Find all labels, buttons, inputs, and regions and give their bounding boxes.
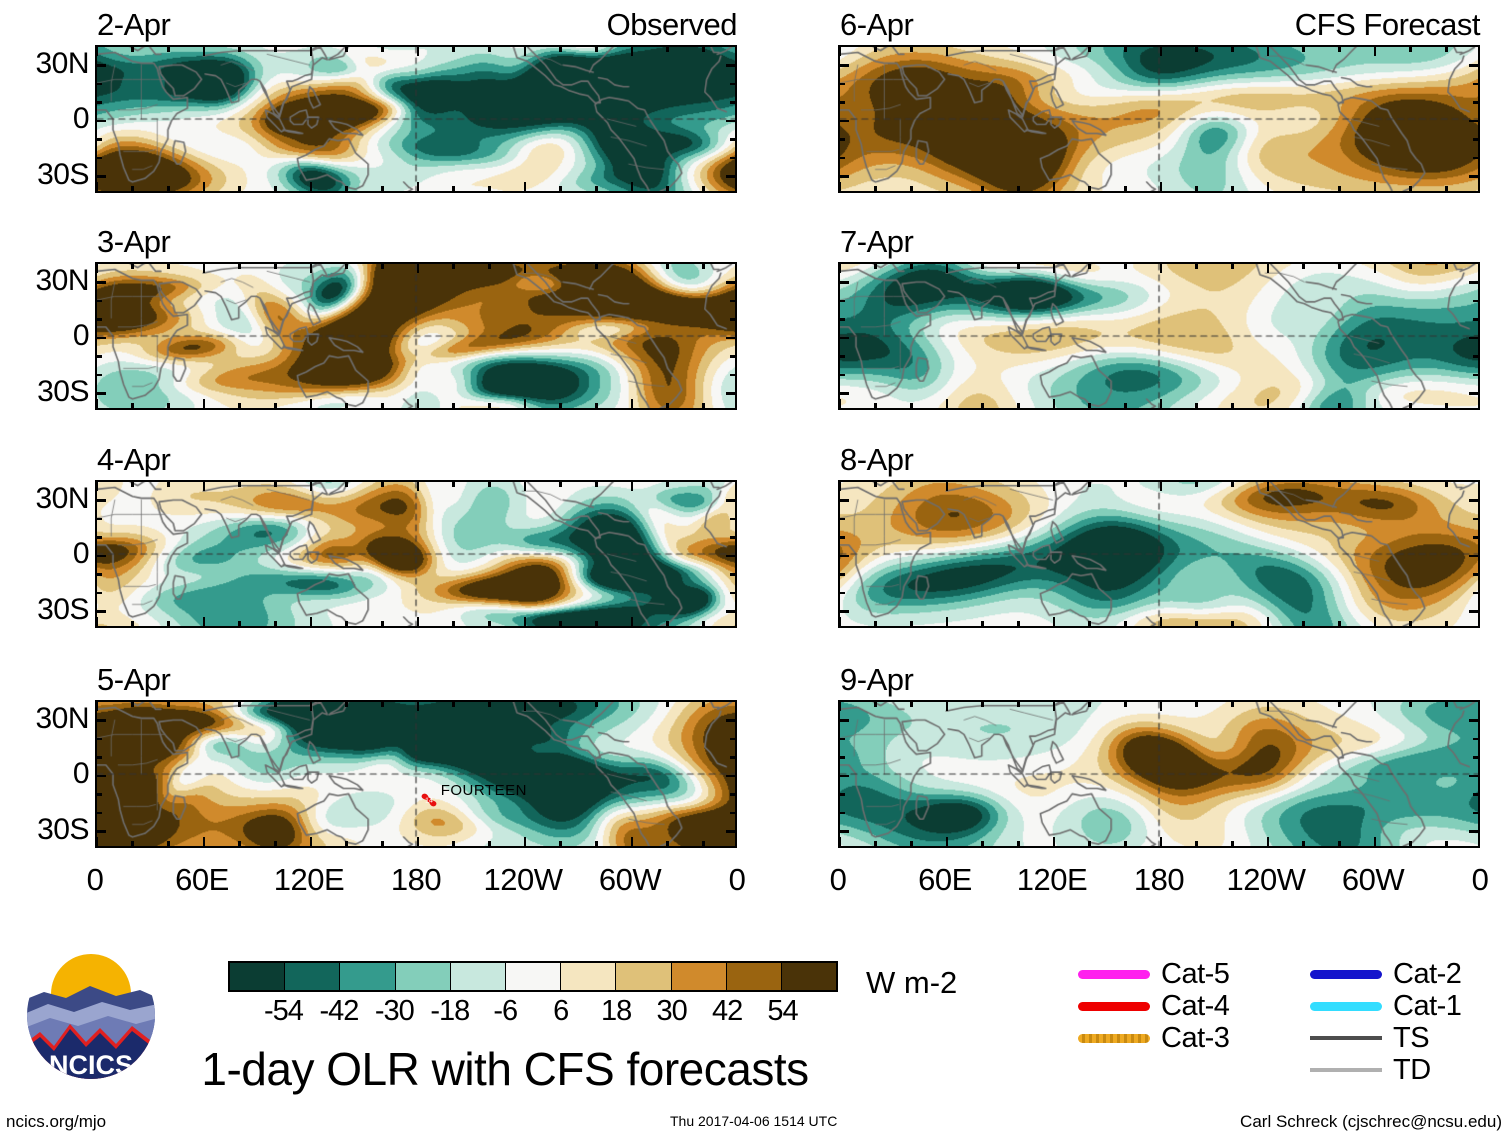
x-tick-mark bbox=[1267, 482, 1270, 491]
x-tick-mark bbox=[203, 617, 206, 626]
colorbar: -54-42-30-18-6618304254 bbox=[228, 961, 838, 1031]
x-tick-mark bbox=[1195, 403, 1198, 408]
x-tick-mark bbox=[1124, 264, 1127, 269]
legend-color-swatch bbox=[1310, 1036, 1382, 1040]
x-tick-mark bbox=[981, 264, 984, 269]
x-tick-mark bbox=[1124, 621, 1127, 626]
y-tick-mark bbox=[97, 374, 102, 377]
x-tick-mark bbox=[1267, 399, 1270, 408]
x-tick-mark bbox=[946, 47, 949, 56]
x-tick-mark bbox=[167, 841, 170, 846]
x-tick-mark bbox=[910, 47, 913, 52]
legend-color-swatch bbox=[1078, 970, 1150, 979]
x-tick-mark bbox=[274, 841, 277, 846]
x-tick-mark bbox=[238, 841, 241, 846]
x-tick-mark bbox=[1195, 186, 1198, 191]
y-tick-label: 0 bbox=[73, 319, 89, 353]
colorbar-tick-label: 18 bbox=[601, 995, 631, 1028]
y-tick-mark bbox=[1473, 573, 1478, 576]
y-tick-mark bbox=[730, 300, 735, 303]
x-tick-mark bbox=[524, 617, 527, 626]
x-tick-mark bbox=[1195, 702, 1198, 707]
y-tick-mark bbox=[1473, 812, 1478, 815]
x-tick-label: 0 bbox=[729, 862, 746, 898]
x-tick-mark bbox=[666, 841, 669, 846]
x-tick-mark bbox=[1017, 47, 1020, 52]
x-tick-mark bbox=[167, 47, 170, 52]
x-tick-mark bbox=[381, 264, 384, 269]
legend-color-swatch bbox=[1078, 1002, 1150, 1011]
y-tick-mark bbox=[97, 101, 102, 104]
x-tick-mark bbox=[702, 702, 705, 707]
y-tick-mark bbox=[1469, 499, 1478, 502]
y-tick-mark bbox=[1473, 592, 1478, 595]
map-canvas bbox=[838, 262, 1480, 410]
x-tick-label: 120E bbox=[1017, 862, 1087, 898]
map-panel-6-apr: 6-AprCFS Forecast bbox=[838, 45, 1480, 193]
x-tick-mark bbox=[131, 621, 134, 626]
x-tick-mark bbox=[381, 403, 384, 408]
x-tick-mark bbox=[874, 47, 877, 52]
x-tick-mark bbox=[524, 482, 527, 491]
y-tick-mark bbox=[97, 120, 106, 123]
y-tick-mark bbox=[726, 719, 735, 722]
x-tick-mark bbox=[702, 841, 705, 846]
x-tick-label: 120W bbox=[484, 862, 563, 898]
x-tick-mark bbox=[874, 841, 877, 846]
x-tick-mark bbox=[131, 702, 134, 707]
x-tick-mark bbox=[1017, 186, 1020, 191]
x-tick-mark bbox=[1088, 186, 1091, 191]
svg-text:14: 14 bbox=[425, 798, 433, 805]
panel-date-label: 4-Apr bbox=[97, 442, 170, 478]
footer-author[interactable]: Carl Schreck (cjschrec@ncsu.edu) bbox=[1240, 1112, 1502, 1132]
x-tick-mark bbox=[310, 182, 313, 191]
x-tick-mark bbox=[839, 47, 842, 56]
legend-label: Cat-2 bbox=[1393, 960, 1461, 989]
x-tick-mark bbox=[381, 47, 384, 52]
x-tick-mark bbox=[238, 403, 241, 408]
x-tick-mark bbox=[1302, 47, 1305, 52]
legend-label: TS bbox=[1393, 1024, 1429, 1053]
x-tick-mark bbox=[488, 47, 491, 52]
y-tick-mark bbox=[1473, 756, 1478, 759]
x-tick-mark bbox=[1017, 841, 1020, 846]
y-tick-mark bbox=[1473, 738, 1478, 741]
map-panel-2-apr: 2-AprObserved30N030S bbox=[95, 45, 737, 193]
colorbar-tick-label: -54 bbox=[264, 995, 303, 1028]
x-tick-mark bbox=[1088, 841, 1091, 846]
y-tick-mark bbox=[840, 573, 845, 576]
colorbar-segment bbox=[339, 963, 394, 990]
x-tick-mark bbox=[702, 403, 705, 408]
colorbar-segment bbox=[284, 963, 339, 990]
x-tick-mark bbox=[1160, 837, 1163, 846]
y-tick-mark bbox=[840, 120, 849, 123]
x-tick-mark bbox=[1374, 264, 1377, 273]
x-tick-mark bbox=[1053, 47, 1056, 56]
y-tick-mark bbox=[840, 499, 849, 502]
y-tick-mark bbox=[1469, 281, 1478, 284]
y-tick-mark bbox=[97, 793, 102, 796]
x-tick-mark bbox=[559, 264, 562, 269]
legend-column-right: Cat-2Cat-1TSTD bbox=[1310, 958, 1461, 1086]
legend-item-cat-4: Cat-4 bbox=[1078, 990, 1229, 1022]
x-tick-mark bbox=[1017, 264, 1020, 269]
y-tick-mark bbox=[840, 157, 845, 160]
legend-item-cat-3: Cat-3 bbox=[1078, 1022, 1229, 1054]
colorbar-tick-label: 42 bbox=[712, 995, 742, 1028]
map-panel-5-apr: 5-Apr30N030S14FOURTEEN060E120E180120W60W… bbox=[95, 700, 737, 848]
x-tick-mark bbox=[1409, 841, 1412, 846]
x-tick-mark bbox=[488, 841, 491, 846]
y-tick-mark bbox=[1473, 374, 1478, 377]
x-tick-mark bbox=[839, 482, 842, 491]
x-tick-mark bbox=[1088, 47, 1091, 52]
y-tick-label: 30N bbox=[35, 482, 89, 516]
y-tick-mark bbox=[840, 138, 845, 141]
legend-color-swatch bbox=[1310, 1068, 1382, 1072]
legend-item-ts: TS bbox=[1310, 1022, 1461, 1054]
olr-anomaly-field bbox=[97, 47, 735, 191]
olr-anomaly-field bbox=[97, 264, 735, 408]
x-tick-mark bbox=[524, 837, 527, 846]
x-tick-mark bbox=[1445, 186, 1448, 191]
x-tick-mark bbox=[1088, 482, 1091, 487]
x-tick-mark bbox=[874, 186, 877, 191]
x-tick-mark bbox=[1445, 621, 1448, 626]
colorbar-segment bbox=[450, 963, 505, 990]
x-tick-mark bbox=[666, 47, 669, 52]
x-tick-mark bbox=[702, 482, 705, 487]
x-tick-mark bbox=[1338, 47, 1341, 52]
y-tick-mark bbox=[840, 536, 845, 539]
x-tick-mark bbox=[167, 621, 170, 626]
x-tick-mark bbox=[1088, 702, 1091, 707]
x-tick-label: 60E bbox=[918, 862, 972, 898]
y-tick-label: 30S bbox=[37, 158, 89, 192]
legend-color-swatch bbox=[1078, 1034, 1150, 1043]
y-tick-mark bbox=[840, 101, 845, 104]
x-tick-mark bbox=[1160, 482, 1163, 491]
x-tick-mark bbox=[1195, 621, 1198, 626]
x-tick-mark bbox=[1302, 403, 1305, 408]
x-tick-mark bbox=[1338, 403, 1341, 408]
x-tick-label: 120W bbox=[1227, 862, 1306, 898]
x-tick-mark bbox=[1338, 186, 1341, 191]
x-tick-mark bbox=[203, 182, 206, 191]
x-tick-mark bbox=[666, 621, 669, 626]
y-tick-mark bbox=[1469, 555, 1478, 558]
x-tick-mark bbox=[238, 702, 241, 707]
figure-root: 2-AprObserved30N030S3-Apr30N030S4-Apr30N… bbox=[0, 0, 1510, 1137]
x-tick-mark bbox=[702, 47, 705, 52]
x-tick-mark bbox=[310, 264, 313, 273]
x-tick-mark bbox=[96, 264, 99, 273]
x-tick-mark bbox=[666, 264, 669, 269]
y-tick-label: 30N bbox=[35, 702, 89, 736]
y-tick-mark bbox=[97, 738, 102, 741]
x-tick-mark bbox=[874, 482, 877, 487]
y-tick-mark bbox=[840, 756, 845, 759]
legend-label: Cat-4 bbox=[1161, 992, 1229, 1021]
x-tick-mark bbox=[1231, 264, 1234, 269]
y-axis-labels: 30N030S bbox=[9, 262, 89, 410]
y-tick-mark bbox=[97, 337, 106, 340]
x-tick-mark bbox=[310, 47, 313, 56]
x-tick-mark bbox=[310, 399, 313, 408]
x-tick-mark bbox=[1374, 702, 1377, 711]
y-tick-mark bbox=[840, 518, 845, 521]
x-tick-mark bbox=[1267, 702, 1270, 711]
x-tick-mark bbox=[238, 47, 241, 52]
x-tick-mark bbox=[417, 482, 420, 491]
x-tick-mark bbox=[345, 264, 348, 269]
y-tick-mark bbox=[97, 573, 102, 576]
x-tick-mark bbox=[203, 47, 206, 56]
y-tick-mark bbox=[840, 83, 845, 86]
x-tick-mark bbox=[666, 403, 669, 408]
y-tick-mark bbox=[730, 536, 735, 539]
y-tick-mark bbox=[1469, 610, 1478, 613]
x-tick-mark bbox=[1445, 47, 1448, 52]
y-tick-mark bbox=[1469, 830, 1478, 833]
y-tick-mark bbox=[730, 157, 735, 160]
x-tick-mark bbox=[1195, 47, 1198, 52]
y-tick-mark bbox=[726, 775, 735, 778]
x-tick-mark bbox=[238, 264, 241, 269]
y-tick-mark bbox=[97, 592, 102, 595]
x-tick-mark bbox=[631, 617, 634, 626]
colorbar-segment bbox=[615, 963, 670, 990]
x-tick-mark bbox=[1231, 403, 1234, 408]
x-tick-mark bbox=[595, 702, 598, 707]
x-tick-mark bbox=[96, 399, 99, 408]
y-tick-mark bbox=[97, 281, 106, 284]
x-tick-mark bbox=[96, 617, 99, 626]
x-tick-mark bbox=[1017, 702, 1020, 707]
y-tick-mark bbox=[726, 499, 735, 502]
x-tick-mark bbox=[1231, 482, 1234, 487]
x-tick-mark bbox=[488, 264, 491, 269]
colorbar-tick-label: -30 bbox=[375, 995, 414, 1028]
x-tick-mark bbox=[595, 841, 598, 846]
x-tick-mark bbox=[595, 47, 598, 52]
colorbar-segment bbox=[230, 963, 284, 990]
y-tick-mark bbox=[730, 573, 735, 576]
y-tick-mark bbox=[726, 64, 735, 67]
x-tick-mark bbox=[981, 186, 984, 191]
colorbar-segment bbox=[505, 963, 560, 990]
x-tick-mark bbox=[981, 702, 984, 707]
y-tick-mark bbox=[730, 355, 735, 358]
x-tick-mark bbox=[131, 841, 134, 846]
logo-text: NCICS bbox=[49, 1050, 133, 1080]
x-tick-mark bbox=[131, 264, 134, 269]
x-tick-mark bbox=[1053, 837, 1056, 846]
x-tick-mark bbox=[452, 702, 455, 707]
x-tick-mark bbox=[981, 841, 984, 846]
legend-item-td: TD bbox=[1310, 1054, 1461, 1086]
x-tick-mark bbox=[839, 264, 842, 273]
x-tick-mark bbox=[1302, 482, 1305, 487]
colorbar-segment bbox=[781, 963, 836, 990]
x-tick-mark bbox=[1445, 264, 1448, 269]
x-tick-mark bbox=[1124, 186, 1127, 191]
x-tick-mark bbox=[1302, 841, 1305, 846]
y-tick-mark bbox=[1469, 175, 1478, 178]
y-tick-mark bbox=[840, 337, 849, 340]
y-tick-mark bbox=[726, 175, 735, 178]
x-tick-mark bbox=[1374, 182, 1377, 191]
panel-date-label: 6-Apr bbox=[840, 7, 913, 43]
x-tick-mark bbox=[274, 403, 277, 408]
x-tick-mark bbox=[910, 841, 913, 846]
x-tick-mark bbox=[1302, 264, 1305, 269]
x-tick-mark bbox=[1338, 841, 1341, 846]
footer-website[interactable]: ncics.org/mjo bbox=[6, 1112, 106, 1132]
y-tick-mark bbox=[97, 830, 106, 833]
x-tick-mark bbox=[1160, 617, 1163, 626]
column-header-observed: Observed bbox=[607, 7, 737, 43]
y-tick-mark bbox=[840, 281, 849, 284]
x-tick-mark bbox=[524, 47, 527, 56]
y-tick-mark bbox=[730, 101, 735, 104]
x-tick-mark bbox=[345, 621, 348, 626]
x-tick-mark bbox=[274, 186, 277, 191]
x-tick-mark bbox=[1445, 403, 1448, 408]
y-tick-mark bbox=[726, 337, 735, 340]
x-tick-mark bbox=[559, 403, 562, 408]
legend-label: Cat-5 bbox=[1161, 960, 1229, 989]
x-tick-mark bbox=[1302, 186, 1305, 191]
y-axis-labels: 30N030S bbox=[9, 45, 89, 193]
x-tick-mark bbox=[910, 482, 913, 487]
y-tick-mark bbox=[97, 318, 102, 321]
x-tick-mark bbox=[452, 186, 455, 191]
legend-item-cat-2: Cat-2 bbox=[1310, 958, 1461, 990]
storm-marker-icon[interactable]: 14 bbox=[418, 789, 440, 816]
x-tick-mark bbox=[1053, 482, 1056, 491]
x-tick-mark bbox=[910, 621, 913, 626]
map-canvas bbox=[838, 480, 1480, 628]
x-tick-mark bbox=[417, 264, 420, 273]
x-tick-mark bbox=[559, 186, 562, 191]
x-tick-mark bbox=[131, 482, 134, 487]
x-tick-mark bbox=[417, 617, 420, 626]
x-tick-mark bbox=[1160, 264, 1163, 273]
y-tick-mark bbox=[1469, 775, 1478, 778]
x-tick-mark bbox=[1267, 617, 1270, 626]
legend-item-cat-5: Cat-5 bbox=[1078, 958, 1229, 990]
x-tick-mark bbox=[131, 186, 134, 191]
map-canvas bbox=[95, 45, 737, 193]
x-tick-mark bbox=[666, 702, 669, 707]
x-tick-mark bbox=[559, 482, 562, 487]
olr-anomaly-field bbox=[840, 702, 1478, 846]
column-header-forecast: CFS Forecast bbox=[1295, 7, 1480, 43]
y-tick-mark bbox=[97, 175, 106, 178]
y-tick-label: 30S bbox=[37, 593, 89, 627]
x-tick-mark bbox=[203, 702, 206, 711]
y-tick-mark bbox=[840, 355, 845, 358]
x-tick-mark bbox=[1160, 702, 1163, 711]
x-tick-mark bbox=[381, 702, 384, 707]
x-tick-mark bbox=[559, 702, 562, 707]
x-tick-mark bbox=[631, 702, 634, 711]
x-tick-mark bbox=[1017, 403, 1020, 408]
x-tick-mark bbox=[1231, 621, 1234, 626]
x-tick-mark bbox=[1053, 264, 1056, 273]
legend-color-swatch bbox=[1310, 970, 1382, 979]
x-tick-mark bbox=[631, 482, 634, 491]
x-tick-mark bbox=[1160, 182, 1163, 191]
x-tick-mark bbox=[274, 47, 277, 52]
x-tick-mark bbox=[345, 841, 348, 846]
x-tick-mark bbox=[1409, 264, 1412, 269]
x-tick-mark bbox=[1302, 621, 1305, 626]
y-tick-mark bbox=[840, 392, 849, 395]
x-tick-mark bbox=[946, 837, 949, 846]
x-tick-mark bbox=[524, 399, 527, 408]
x-tick-mark bbox=[559, 47, 562, 52]
x-tick-mark bbox=[203, 482, 206, 491]
x-tick-mark bbox=[631, 399, 634, 408]
y-tick-mark bbox=[97, 355, 102, 358]
y-tick-mark bbox=[97, 157, 102, 160]
y-tick-mark bbox=[97, 555, 106, 558]
legend-column-left: Cat-5Cat-4Cat-3 bbox=[1078, 958, 1229, 1054]
x-tick-mark bbox=[1231, 702, 1234, 707]
x-tick-mark bbox=[1231, 841, 1234, 846]
panel-date-label: 9-Apr bbox=[840, 662, 913, 698]
x-tick-mark bbox=[381, 621, 384, 626]
x-tick-mark bbox=[1124, 403, 1127, 408]
x-tick-mark bbox=[631, 182, 634, 191]
x-tick-mark bbox=[981, 47, 984, 52]
x-tick-mark bbox=[874, 702, 877, 707]
y-tick-mark bbox=[97, 392, 106, 395]
y-tick-label: 0 bbox=[73, 102, 89, 136]
y-tick-mark bbox=[840, 738, 845, 741]
y-tick-mark bbox=[97, 610, 106, 613]
panel-date-label: 8-Apr bbox=[840, 442, 913, 478]
x-tick-mark bbox=[1160, 399, 1163, 408]
x-tick-mark bbox=[524, 182, 527, 191]
x-tick-mark bbox=[345, 702, 348, 707]
x-tick-label: 180 bbox=[1134, 862, 1184, 898]
x-tick-mark bbox=[381, 186, 384, 191]
x-tick-label: 60W bbox=[599, 862, 661, 898]
x-tick-mark bbox=[1124, 702, 1127, 707]
x-tick-mark bbox=[274, 621, 277, 626]
x-tick-mark bbox=[666, 482, 669, 487]
x-tick-mark bbox=[310, 702, 313, 711]
x-tick-label: 0 bbox=[1472, 862, 1489, 898]
x-tick-mark bbox=[524, 702, 527, 711]
x-tick-mark bbox=[1445, 702, 1448, 707]
map-canvas bbox=[838, 700, 1480, 848]
x-tick-mark bbox=[310, 482, 313, 491]
olr-anomaly-field bbox=[97, 482, 735, 626]
y-tick-mark bbox=[730, 592, 735, 595]
x-tick-mark bbox=[488, 186, 491, 191]
x-tick-mark bbox=[702, 621, 705, 626]
x-tick-mark bbox=[1267, 182, 1270, 191]
x-tick-mark bbox=[524, 264, 527, 273]
x-tick-mark bbox=[1409, 186, 1412, 191]
x-tick-mark bbox=[1160, 47, 1163, 56]
